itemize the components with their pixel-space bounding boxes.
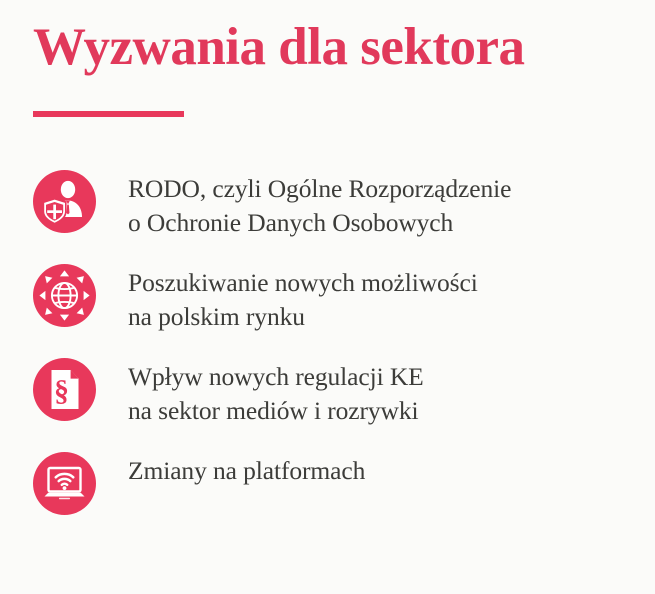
list-item-line: Wpływ nowych regulacji KE <box>128 360 655 394</box>
list-item-text: Zmiany na platformach <box>128 450 655 488</box>
legal-document-icon: § <box>33 358 96 421</box>
list-item-line: o Ochronie Danych Osobowych <box>128 206 655 240</box>
globe-expansion-icon <box>33 264 96 327</box>
list-item-line: RODO, czyli Ogólne Rozporządzenie <box>128 172 655 206</box>
list-item-text: RODO, czyli Ogólne Rozporządzenie o Ochr… <box>128 168 655 240</box>
list-item: § Wpływ nowych regulacji KE na sektor me… <box>0 356 655 450</box>
list-item-text: Wpływ nowych regulacji KE na sektor medi… <box>128 356 655 428</box>
list-item-line: Zmiany na platformach <box>128 454 655 488</box>
user-shield-icon <box>33 170 96 233</box>
list-item-line: na sektor mediów i rozrywki <box>128 394 655 428</box>
list-item: Poszukiwanie nowych możliwości na polski… <box>0 262 655 356</box>
page-title: Wyzwania dla sektora <box>33 20 525 76</box>
list-item: Zmiany na platformach <box>0 450 655 544</box>
laptop-wifi-icon <box>33 452 96 515</box>
list-item-text: Poszukiwanie nowych możliwości na polski… <box>128 262 655 334</box>
list-item: RODO, czyli Ogólne Rozporządzenie o Ochr… <box>0 168 655 262</box>
slide-root: Wyzwania dla sektora <box>0 0 655 594</box>
list-item-line: Poszukiwanie nowych możliwości <box>128 266 655 300</box>
title-underline-rule <box>33 111 184 117</box>
list-item-line: na polskim rynku <box>128 300 655 334</box>
challenge-list: RODO, czyli Ogólne Rozporządzenie o Ochr… <box>0 168 655 544</box>
svg-text:§: § <box>54 375 69 408</box>
